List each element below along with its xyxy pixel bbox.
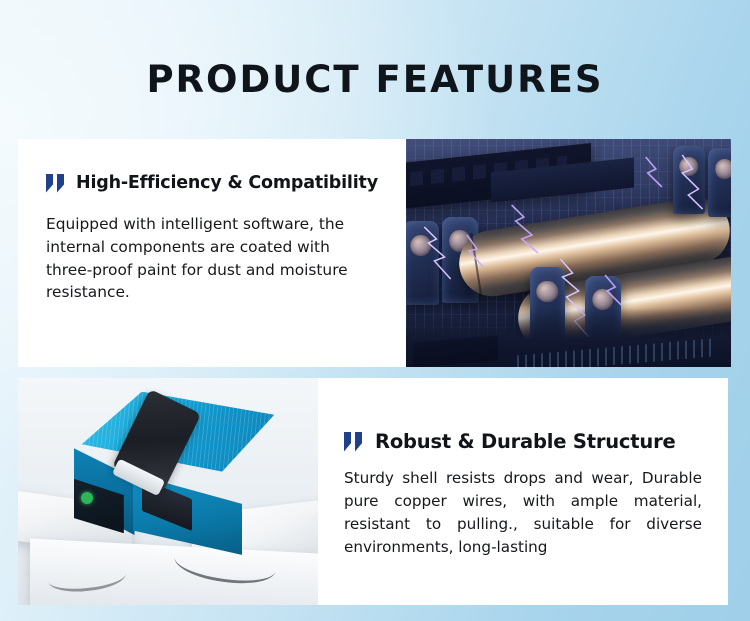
board-lower-section [406, 308, 731, 367]
feature-text-panel: High-Efficiency & Compatibility Equipped… [18, 139, 406, 367]
charger-scene-artwork [18, 378, 318, 605]
feature-heading-row: Robust & Durable Structure [344, 430, 706, 453]
page-title: PRODUCT FEATURES [0, 0, 750, 101]
feature-card-robust-structure: Robust & Durable Structure Sturdy shell … [18, 378, 728, 605]
charger-unit [60, 392, 288, 574]
feature-heading: Robust & Durable Structure [375, 430, 676, 453]
blue-charger-product-image [18, 378, 318, 605]
feature-body-text: Sturdy shell resists drops and wear, Dur… [344, 467, 706, 559]
circuit-board-artwork [406, 139, 731, 367]
feature-text-panel: Robust & Durable Structure Sturdy shell … [318, 378, 728, 605]
feature-heading-row: High-Efficiency & Compatibility [46, 173, 380, 193]
double-quote-icon [344, 432, 362, 452]
circuit-board-capacitors-image [406, 139, 731, 367]
double-quote-icon [46, 174, 64, 193]
feature-body-text: Equipped with intelligent software, the … [46, 213, 380, 304]
feature-card-high-efficiency: High-Efficiency & Compatibility Equipped… [18, 139, 731, 367]
feature-heading: High-Efficiency & Compatibility [76, 173, 378, 193]
